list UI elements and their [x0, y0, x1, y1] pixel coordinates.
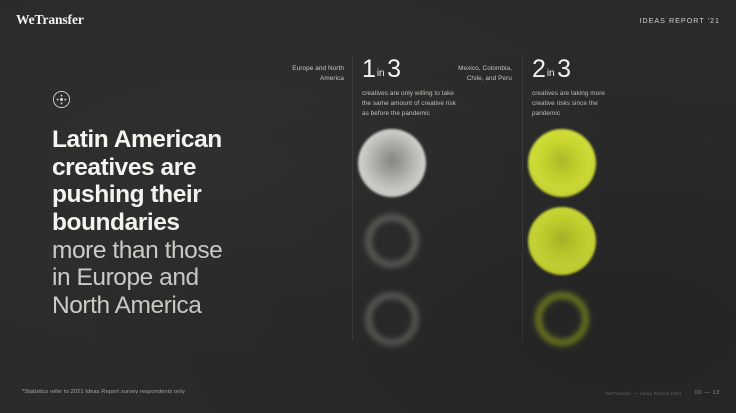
headline-line-2: creatives are [52, 154, 302, 182]
page-number: 00 — 13 [695, 390, 720, 396]
stat-dot-ring [358, 285, 426, 353]
headline-line-4: boundaries [52, 209, 302, 237]
stat-dot-filled [528, 129, 596, 197]
stat-dot-ring [528, 285, 596, 353]
subheadline-line-3: North America [52, 292, 302, 320]
stat-body: 2in3 creatives are taking more creative … [522, 55, 630, 341]
stat-region-label: Europe and North America [282, 64, 344, 83]
wetransfer-logo[interactable]: WeTransfer [16, 12, 84, 28]
stat-ratio-connector: in [545, 68, 557, 79]
move-crosshair-icon [52, 90, 71, 109]
headline-line-1: Latin American [52, 126, 302, 154]
stat-dot-filled [528, 207, 596, 275]
stat-dot-filled [358, 129, 426, 197]
stat-ratio: 1in3 [362, 55, 460, 82]
headline-line-3: pushing their [52, 181, 302, 209]
stat-description: creatives are taking more creative risks… [532, 89, 626, 119]
subheadline-line-2: in Europe and [52, 264, 302, 292]
report-tag: IDEAS REPORT '21 [639, 16, 720, 25]
stat-ratio-numerator: 2 [532, 55, 545, 83]
top-bar: WeTransfer IDEAS REPORT '21 [0, 0, 736, 40]
stat-ratio-numerator: 1 [362, 55, 375, 83]
subheadline-line-1: more than those [52, 237, 302, 265]
stat-body: 1in3 creatives are only willing to take … [352, 55, 460, 341]
stat-region-label: Mexico, Colombia, Chile, and Peru [450, 64, 512, 83]
stat-dot-stack [528, 129, 614, 363]
stat-dot-ring [358, 207, 426, 275]
stat-description: creatives are only willing to take the s… [362, 89, 456, 119]
stat-ratio: 2in3 [532, 55, 630, 82]
headline-block: Latin American creatives are pushing the… [52, 90, 302, 320]
footer-credit: WeTransfer — Ideas Report 2021 [605, 391, 681, 396]
stat-ratio-denominator: 3 [557, 55, 570, 83]
stat-ratio-denominator: 3 [387, 55, 400, 83]
page-title: Latin American creatives are pushing the… [52, 126, 302, 320]
footer-right: WeTransfer — Ideas Report 2021 00 — 13 [605, 390, 720, 396]
stat-dot-stack [358, 129, 444, 363]
stat-ratio-connector: in [375, 68, 387, 79]
footnote: *Statistics refer to 2021 Ideas Report s… [22, 389, 185, 395]
